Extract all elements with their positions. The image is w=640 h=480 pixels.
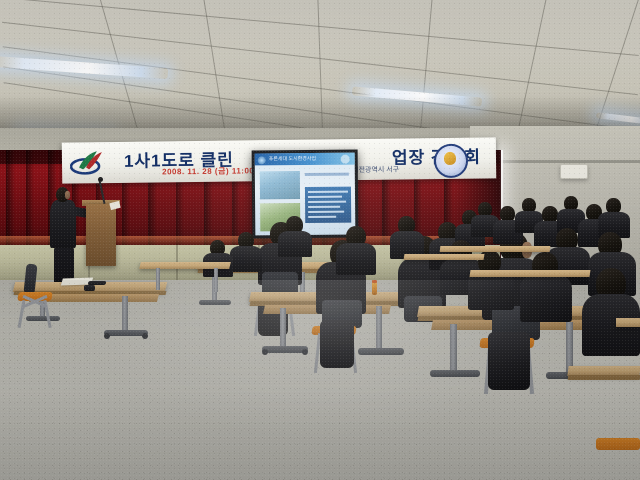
- table-row: [440, 246, 551, 252]
- wall-mounted-device: [560, 164, 588, 179]
- banner-date: 2008. 11. 28 (금) 11:00: [162, 165, 254, 177]
- presenter-standing: [50, 200, 76, 248]
- presenter-face: [65, 191, 70, 199]
- slide-header-text: 푸른세대 도시환경사업: [269, 155, 316, 162]
- slide-header-icon: [258, 156, 266, 164]
- banner-subtitle: 대전광역시 서구: [352, 165, 399, 176]
- table-row: [404, 254, 485, 260]
- projection-screen: 푸른세대 도시환경사업: [252, 150, 359, 239]
- ceiling-light-1: [0, 56, 168, 79]
- organization-swoosh-logo: [70, 148, 104, 176]
- seminar-room-photo: 1사1도로 클린 업장 간담회 2008. 11. 28 (금) 11:00 대…: [0, 0, 640, 480]
- floor-lighting-gradient: [0, 280, 640, 480]
- landscape-photo: [260, 171, 300, 199]
- presentation-slide: 푸른세대 도시환경사업: [255, 153, 356, 236]
- slide-bullet-box: [305, 187, 351, 223]
- wooden-podium: [86, 204, 116, 266]
- slide-header-circle-icon: [341, 155, 350, 164]
- microphone: [98, 177, 103, 182]
- slide-subtitle-line: [305, 173, 349, 176]
- table-row: [470, 270, 591, 277]
- emblem-figure-icon: [444, 152, 456, 165]
